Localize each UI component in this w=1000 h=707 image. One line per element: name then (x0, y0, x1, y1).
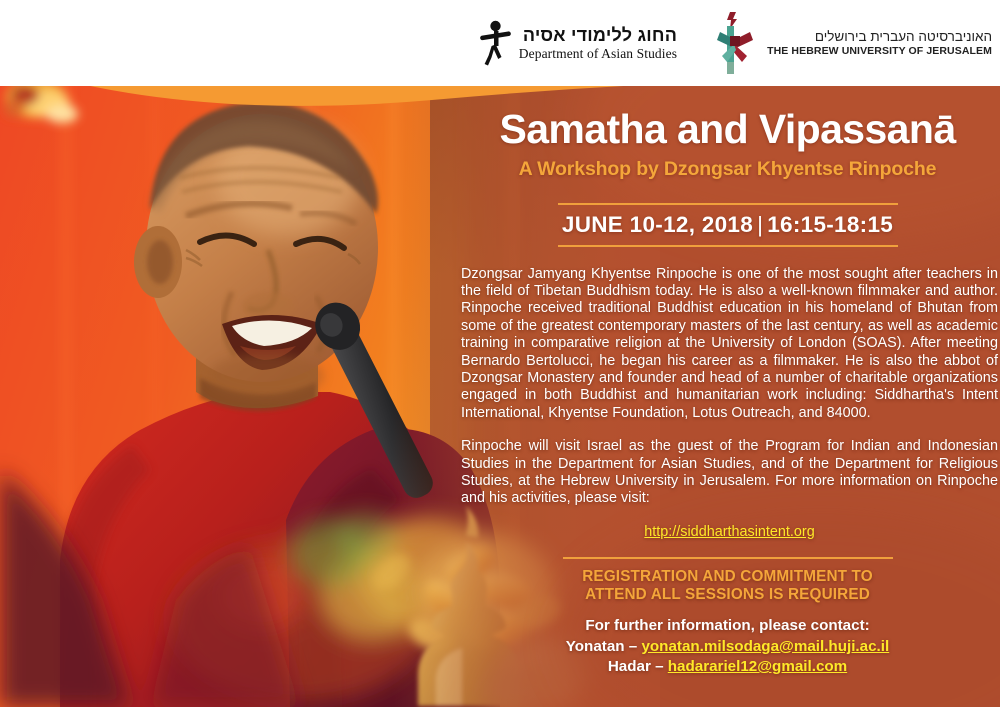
registration-line-2: ATTEND ALL SESSIONS IS REQUIRED (585, 586, 870, 603)
event-date: JUNE 10-12, 2018 (562, 212, 753, 237)
event-date-time: JUNE 10-12, 2018|16:15-18:15 (455, 205, 1000, 245)
asian-studies-hebrew: החוג ללימודי אסיה (523, 26, 677, 44)
contact-email-hadar[interactable]: hadarariel12@gmail.com (668, 658, 847, 675)
contact-row-hadar: Hadar – hadarariel12@gmail.com (455, 657, 1000, 678)
date-time-separator: | (753, 212, 767, 237)
date-band: JUNE 10-12, 2018|16:15-18:15 (455, 203, 1000, 247)
bio-paragraph: Dzongsar Jamyang Khyentse Rinpoche is on… (461, 266, 998, 423)
event-time: 16:15-18:15 (767, 212, 893, 237)
divider-below-date (558, 245, 898, 247)
visit-paragraph: Rinpoche will visit Israel as the guest … (461, 438, 998, 508)
logo-group: החוג ללימודי אסיה Department of Asian St… (478, 10, 992, 76)
page-title: Samatha and Vipassanā (455, 108, 1000, 151)
contact-email-yonatan[interactable]: yonatan.milsodaga@mail.huji.ac.il (641, 638, 889, 655)
divider-above-registration (563, 557, 893, 559)
contact-name-hadar: Hadar – (608, 658, 668, 675)
huji-emblem-icon (706, 10, 758, 76)
asian-studies-logo-text: החוג ללימודי אסיה Department of Asian St… (519, 26, 677, 61)
website-line: http://siddharthasintent.org (461, 524, 998, 541)
walking-figure-icon (478, 19, 512, 67)
contact-row-yonatan: Yonatan – yonatan.milsodaga@mail.huji.ac… (455, 637, 1000, 658)
registration-block: REGISTRATION AND COMMITMENT TO ATTEND AL… (455, 557, 1000, 678)
description-block: Dzongsar Jamyang Khyentse Rinpoche is on… (455, 266, 1000, 542)
huji-logo: האוניברסיטה העברית בירושלים THE HEBREW U… (706, 10, 992, 76)
contact-name-yonatan: Yonatan – (566, 638, 642, 655)
contact-block: For further information, please contact:… (455, 616, 1000, 678)
content-column: Samatha and Vipassanā A Workshop by Dzon… (455, 96, 1000, 707)
huji-logo-text: האוניברסיטה העברית בירושלים THE HEBREW U… (767, 30, 992, 57)
poster-root: החוג ללימודי אסיה Department of Asian St… (0, 0, 1000, 707)
registration-notice: REGISTRATION AND COMMITMENT TO ATTEND AL… (455, 568, 1000, 604)
registration-line-1: REGISTRATION AND COMMITMENT TO (582, 568, 873, 585)
website-link[interactable]: http://siddharthasintent.org (644, 524, 814, 540)
asian-studies-logo: החוג ללימודי אסיה Department of Asian St… (478, 19, 677, 67)
contact-heading: For further information, please contact: (455, 616, 1000, 637)
huji-english: THE HEBREW UNIVERSITY OF JERUSALEM (767, 46, 992, 57)
asian-studies-english: Department of Asian Studies (519, 47, 677, 61)
page-subtitle: A Workshop by Dzongsar Khyentse Rinpoche (455, 158, 1000, 180)
huji-hebrew: האוניברסיטה העברית בירושלים (815, 30, 992, 44)
